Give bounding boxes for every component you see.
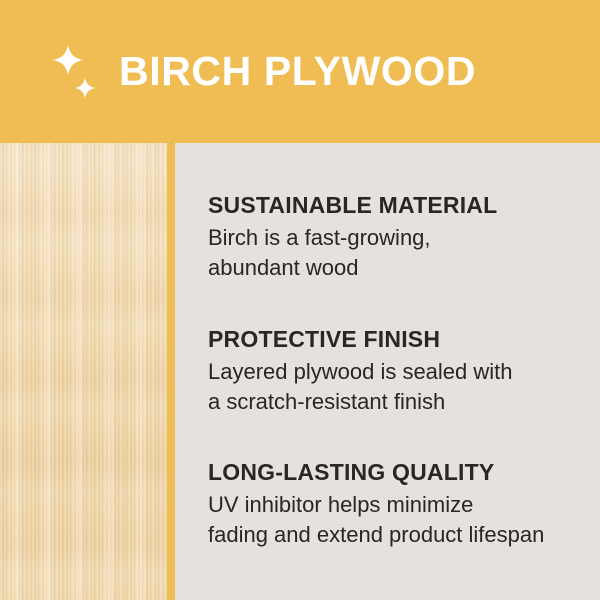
feature-block: SUSTAINABLE MATERIAL Birch is a fast-gro… [208, 193, 593, 283]
page-title: BIRCH PLYWOOD [119, 0, 476, 143]
feature-block: LONG-LASTING QUALITY UV inhibitor helps … [208, 460, 593, 550]
feature-heading: LONG-LASTING QUALITY [208, 460, 593, 486]
feature-description-line: UV inhibitor helps minimize [208, 490, 593, 520]
sparkle-small-icon [75, 78, 95, 98]
sparkle-large-icon [53, 45, 83, 75]
feature-heading: PROTECTIVE FINISH [208, 327, 593, 353]
wood-texture-panel [0, 143, 167, 600]
feature-description-line: fading and extend product lifespan [208, 520, 593, 550]
feature-block: PROTECTIVE FINISH Layered plywood is sea… [208, 327, 593, 417]
features-panel: SUSTAINABLE MATERIAL Birch is a fast-gro… [175, 143, 600, 600]
feature-description: Birch is a fast-growing, abundant wood [208, 223, 593, 283]
panel-divider [167, 143, 175, 600]
feature-description-line: abundant wood [208, 253, 593, 283]
feature-description-line: Birch is a fast-growing, [208, 223, 593, 253]
feature-description-line: Layered plywood is sealed with [208, 357, 593, 387]
sparkle-decoration-group [44, 40, 114, 108]
feature-description: UV inhibitor helps minimize fading and e… [208, 490, 593, 550]
feature-description: Layered plywood is sealed with a scratch… [208, 357, 593, 417]
product-feature-infographic: BIRCH PLYWOOD SUSTAINABLE MATERIAL Birch… [0, 0, 600, 600]
feature-description-line: a scratch-resistant finish [208, 387, 593, 417]
header-banner: BIRCH PLYWOOD [0, 0, 600, 143]
feature-heading: SUSTAINABLE MATERIAL [208, 193, 593, 219]
